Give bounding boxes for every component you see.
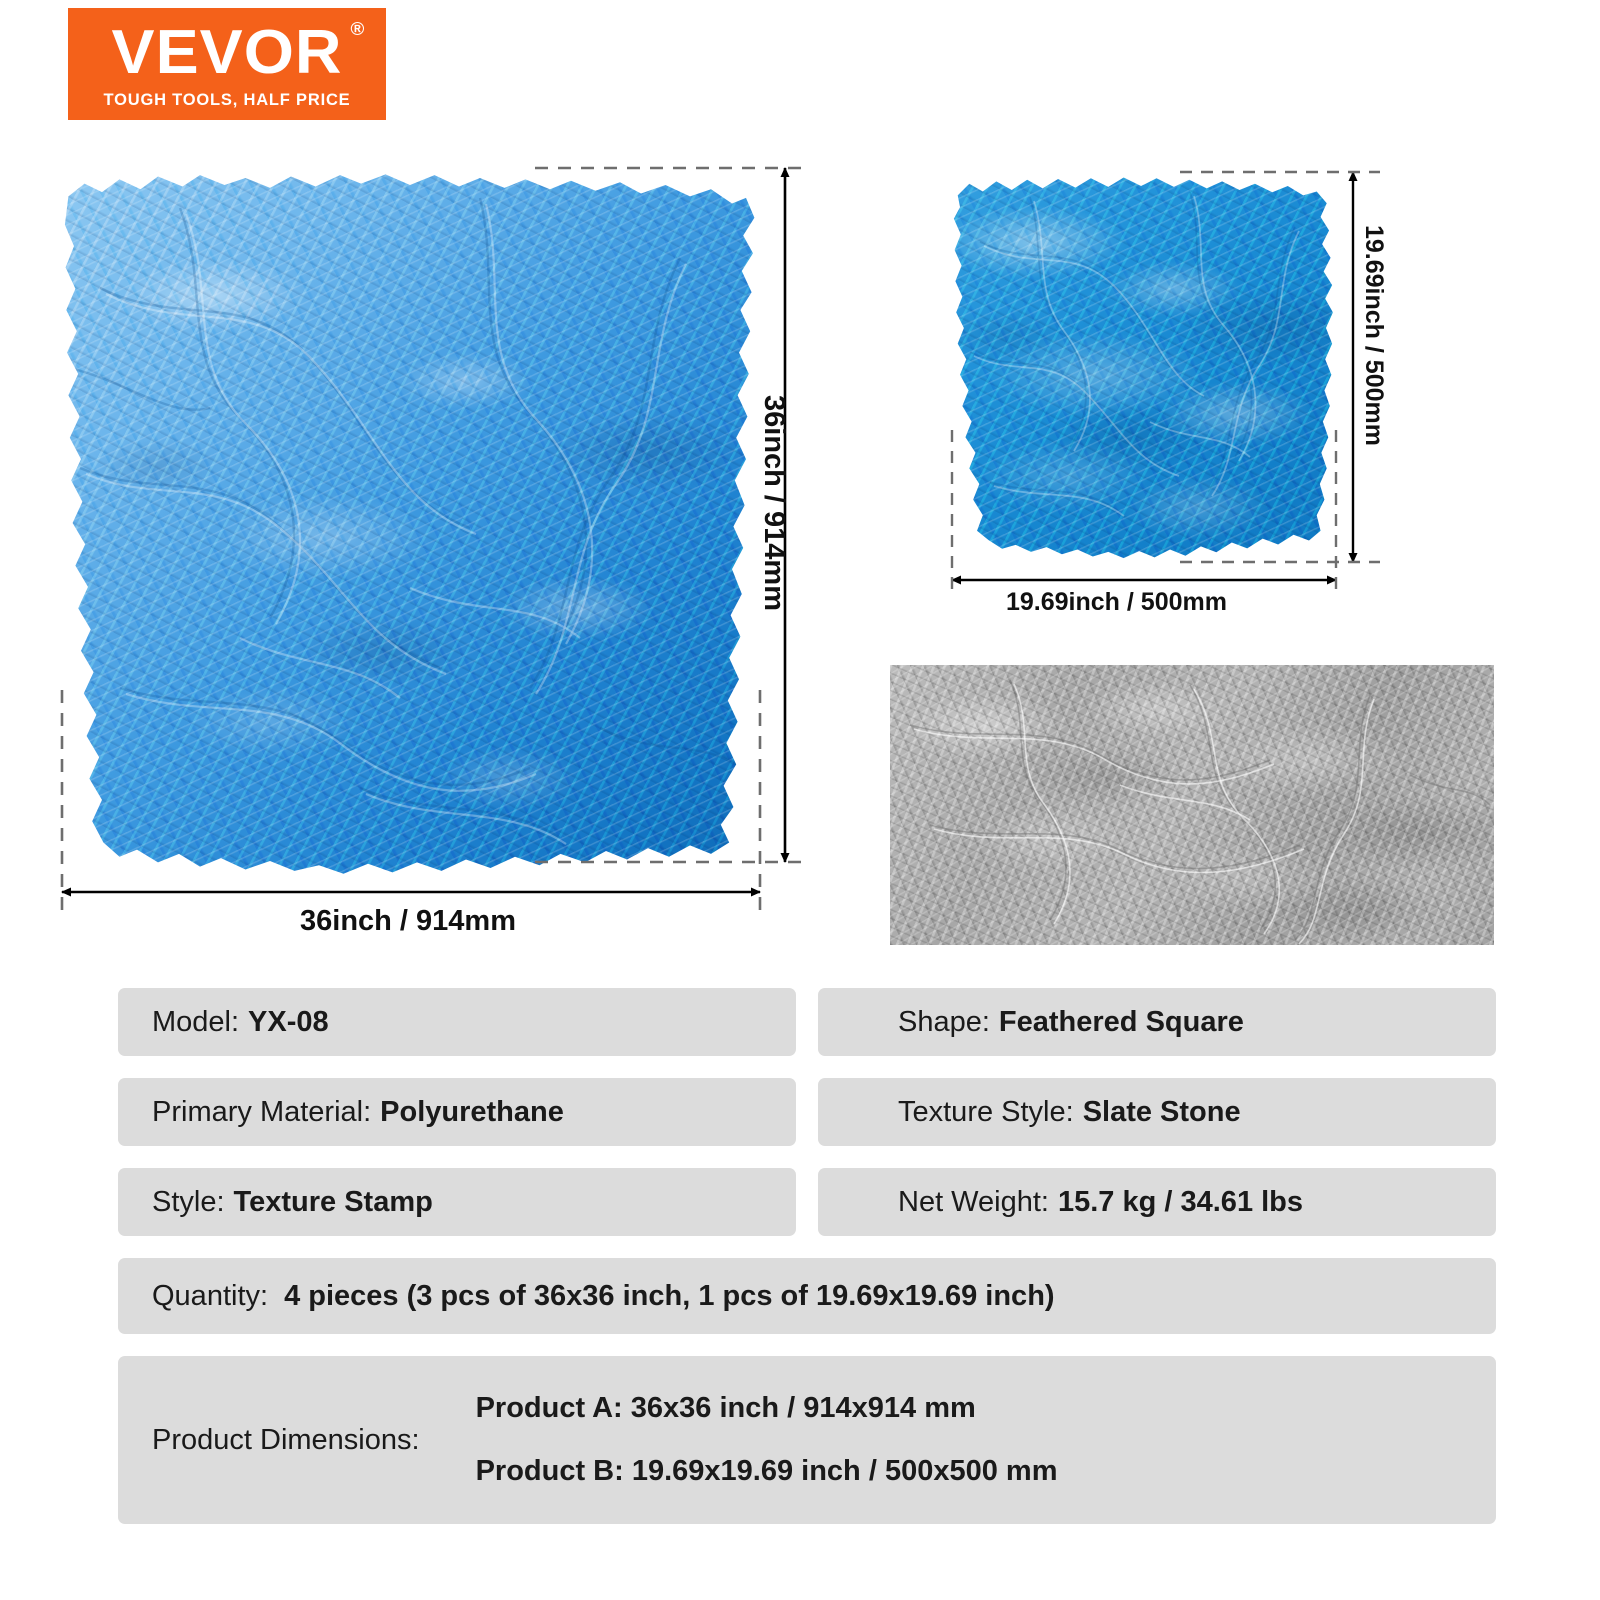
spec-row-style: Style: Texture Stamp (118, 1168, 796, 1236)
spec-label-style: Style: (152, 1186, 225, 1219)
spec-value-net-weight: 15.7 kg / 34.61 lbs (1058, 1186, 1303, 1219)
texture-sample-cracks (890, 665, 1494, 945)
brand-name-text: VEVOR (112, 18, 343, 87)
product-dimension-line-b: Product B: 19.69x19.69 inch / 500x500 mm (476, 1455, 1058, 1488)
spec-value-texture-style: Slate Stone (1083, 1096, 1241, 1129)
spec-label-texture-style: Texture Style: (898, 1096, 1074, 1129)
texture-sample-image (890, 665, 1494, 945)
spec-value-primary-material: Polyurethane (380, 1096, 564, 1129)
spec-label-primary-material: Primary Material: (152, 1096, 371, 1129)
spec-label-model: Model: (152, 1006, 239, 1039)
registered-mark-icon: ® (351, 20, 366, 38)
vevor-logo: VEVOR ® TOUGH TOOLS, HALF PRICE (68, 8, 386, 120)
dim-label-product-b-width: 19.69inch / 500mm (1006, 588, 1227, 617)
brand-name: VEVOR ® (112, 22, 343, 84)
stamp-a-cracks (60, 168, 760, 878)
spec-row-model: Model: YX-08 (118, 988, 796, 1056)
spec-two-column-grid: Model: YX-08 Primary Material: Polyureth… (118, 988, 1496, 1258)
spec-row-shape: Shape: Feathered Square (818, 988, 1496, 1056)
spec-row-quantity: Quantity: 4 pieces (3 pcs of 36x36 inch,… (118, 1258, 1496, 1334)
spec-row-primary-material: Primary Material: Polyurethane (118, 1078, 796, 1146)
specifications-section: Model: YX-08 Primary Material: Polyureth… (118, 988, 1496, 1524)
spec-row-texture-style: Texture Style: Slate Stone (818, 1078, 1496, 1146)
dim-label-product-a-width: 36inch / 914mm (300, 905, 516, 938)
product-a-image (60, 168, 760, 878)
spec-value-shape: Feathered Square (999, 1006, 1244, 1039)
product-dimension-line-a: Product A: 36x36 inch / 914x914 mm (476, 1392, 1058, 1425)
dim-label-product-a-height: 36inch / 914mm (757, 395, 790, 611)
spec-column-right: Shape: Feathered Square Texture Style: S… (818, 988, 1496, 1258)
product-b-image (950, 172, 1336, 562)
spec-label-net-weight: Net Weight: (898, 1186, 1049, 1219)
spec-value-product-dimensions: Product A: 36x36 inch / 914x914 mm Produ… (476, 1392, 1058, 1488)
spec-label-quantity: Quantity: (152, 1280, 268, 1313)
spec-row-product-dimensions: Product Dimensions: Product A: 36x36 inc… (118, 1356, 1496, 1524)
spec-value-quantity: 4 pieces (3 pcs of 36x36 inch, 1 pcs of … (284, 1280, 1055, 1313)
spec-column-left: Model: YX-08 Primary Material: Polyureth… (118, 988, 796, 1258)
brand-tagline: TOUGH TOOLS, HALF PRICE (104, 91, 351, 110)
spec-label-product-dimensions: Product Dimensions: (152, 1424, 420, 1457)
spec-row-net-weight: Net Weight: 15.7 kg / 34.61 lbs (818, 1168, 1496, 1236)
spec-value-model: YX-08 (248, 1006, 329, 1039)
spec-label-shape: Shape: (898, 1006, 990, 1039)
stamp-b-cracks (950, 172, 1336, 562)
dim-label-product-b-height: 19.69inch / 500mm (1359, 225, 1388, 446)
spec-value-style: Texture Stamp (234, 1186, 433, 1219)
